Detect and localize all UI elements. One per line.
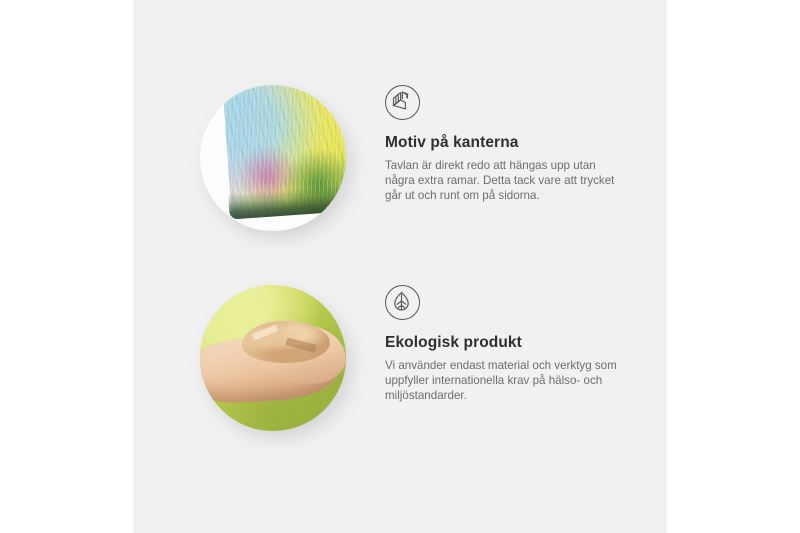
- canvas-corner-artwork: [222, 85, 346, 219]
- leaf-icon: [385, 285, 420, 320]
- feature-block-ekologisk-produkt: Ekologisk produkt Vi använder endast mat…: [133, 285, 667, 445]
- feature-title: Ekologisk produkt: [385, 334, 630, 353]
- product-feature-infographic: Motiv på kanterna Tavlan är direkt redo …: [0, 0, 800, 533]
- feature-title: Motiv på kanterna: [385, 134, 630, 153]
- feature-description: Tavlan är direkt redo att hängas upp uta…: [385, 158, 617, 204]
- feature-description: Vi använder endast material och verktyg …: [385, 358, 617, 404]
- hands-wood-chips-photo: [200, 285, 346, 431]
- wood-chips: [242, 321, 330, 363]
- feature-text-column: Motiv på kanterna Tavlan är direkt redo …: [385, 85, 630, 204]
- content-panel: Motiv på kanterna Tavlan är direkt redo …: [133, 0, 667, 533]
- canvas-wrapped-edge-icon: [385, 85, 420, 120]
- feature-block-motiv-pa-kanterna: Motiv på kanterna Tavlan är direkt redo …: [133, 85, 667, 245]
- feature-text-column: Ekologisk produkt Vi använder endast mat…: [385, 285, 630, 404]
- canvas-corner-photo: [200, 85, 346, 231]
